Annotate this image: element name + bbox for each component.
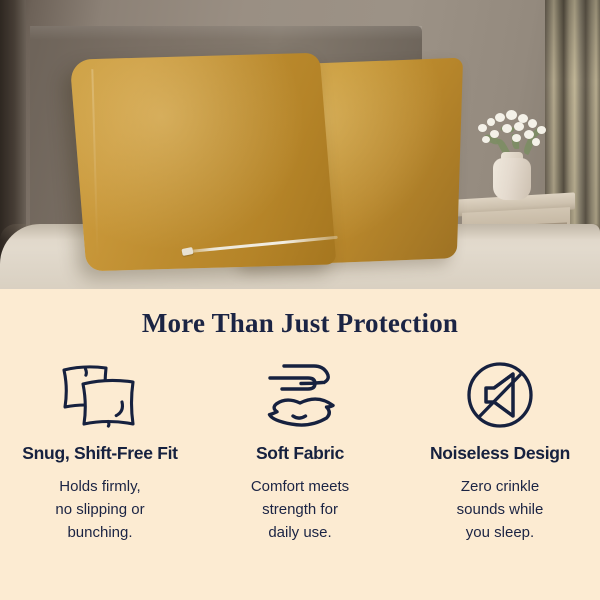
feature-body-line: bunching. <box>0 522 200 545</box>
muted-speaker-icon <box>400 357 600 433</box>
feature-panel: More Than Just Protection Snug, Shift-Fr… <box>0 289 600 600</box>
feature-title-3: Noiseless Design <box>400 443 600 464</box>
feature-title-1: Snug, Shift-Free Fit <box>0 443 200 464</box>
feature-columns: Snug, Shift-Free Fit Holds firmly, no sl… <box>0 357 600 545</box>
feature-body-line: Holds firmly, <box>0 476 200 499</box>
pillow-front-highlight <box>70 53 337 272</box>
product-feature-graphic: More Than Just Protection Snug, Shift-Fr… <box>0 0 600 600</box>
feature-body-line: no slipping or <box>0 499 200 522</box>
feature-body-line: sounds while <box>400 499 600 522</box>
feature-body-line: Comfort meets <box>200 476 400 499</box>
hero-product-photo <box>0 0 600 289</box>
feature-body-line: Zero crinkle <box>400 476 600 499</box>
hand-on-pillow-icon <box>200 357 400 433</box>
feature-title-2: Soft Fabric <box>200 443 400 464</box>
panel-headline: More Than Just Protection <box>0 308 600 339</box>
feature-body-line: daily use. <box>200 522 400 545</box>
feature-column-2: Soft Fabric Comfort meets strength for d… <box>200 357 400 545</box>
feature-column-1: Snug, Shift-Free Fit Holds firmly, no sl… <box>0 357 200 545</box>
feature-body-1: Holds firmly, no slipping or bunching. <box>0 476 200 545</box>
feature-body-line: strength for <box>200 499 400 522</box>
feature-column-3: Noiseless Design Zero crinkle sounds whi… <box>400 357 600 545</box>
feature-body-2: Comfort meets strength for daily use. <box>200 476 400 545</box>
two-pillows-icon <box>0 357 200 433</box>
feature-body-line: you sleep. <box>400 522 600 545</box>
ceramic-vase <box>493 158 531 200</box>
feature-body-3: Zero crinkle sounds while you sleep. <box>400 476 600 545</box>
pillow-front <box>70 53 337 272</box>
